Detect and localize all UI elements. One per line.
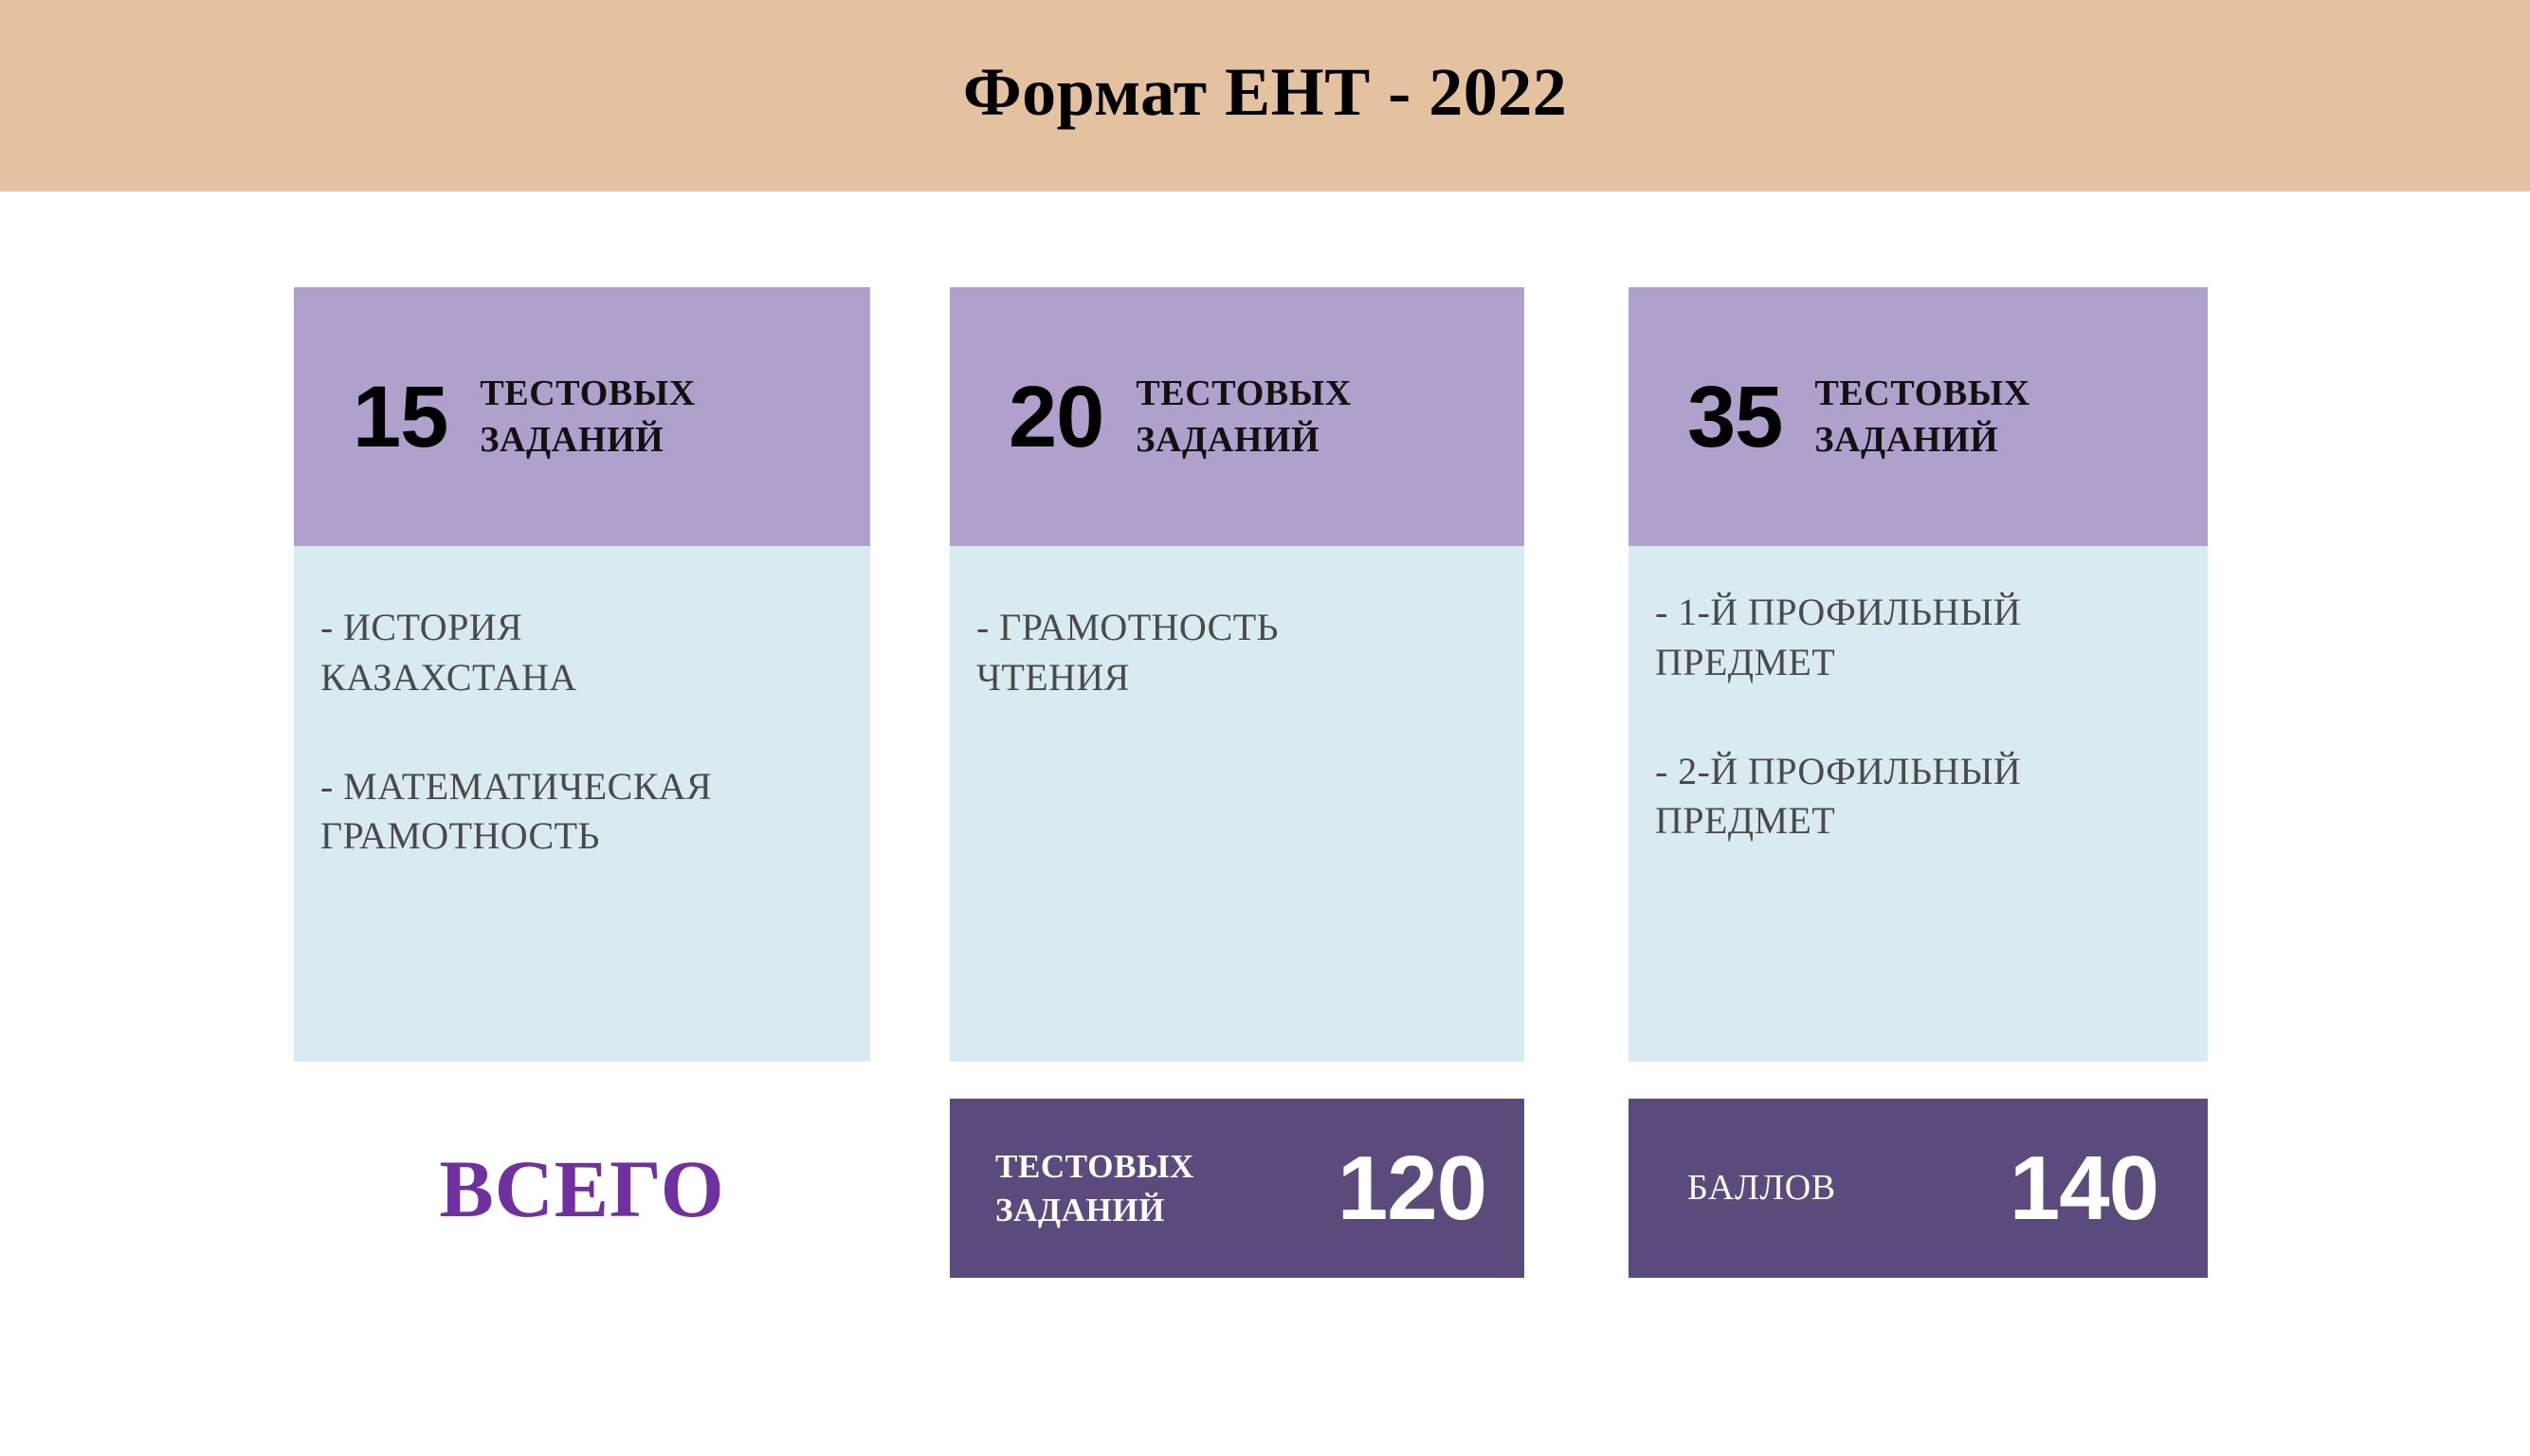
total-points-label: БАЛЛОВ (1687, 1165, 1836, 1211)
card-subject-item: - 2-Й ПРОФИЛЬНЫЙ ПРЕДМЕТ (1655, 747, 2181, 847)
exam-card-profile-subjects: 35 ТЕСТОВЫХ ЗАДАНИЙ - 1-Й ПРОФИЛЬНЫЙ ПРЕ… (1629, 287, 2208, 1062)
cards-area: 15 ТЕСТОВЫХ ЗАДАНИЙ - ИСТОРИЯ КАЗАХСТАНА… (0, 191, 2530, 1456)
total-points-value: 140 (2010, 1143, 2158, 1234)
card-subject-item: - ИСТОРИЯ КАЗАХСТАНА (320, 603, 844, 703)
total-points-box: БАЛЛОВ 140 (1629, 1099, 2208, 1278)
exam-card-history-math: 15 ТЕСТОВЫХ ЗАДАНИЙ - ИСТОРИЯ КАЗАХСТАНА… (294, 287, 870, 1062)
total-tasks-value: 120 (1338, 1143, 1486, 1234)
card-body: - ИСТОРИЯ КАЗАХСТАНА - МАТЕМАТИЧЕСКАЯ ГР… (294, 546, 870, 1062)
card-subject-item: - МАТЕМАТИЧЕСКАЯ ГРАМОТНОСТЬ (320, 762, 844, 863)
total-tasks-label: ТЕСТОВЫХ ЗАДАНИЙ (995, 1145, 1194, 1231)
page-title: Формат ЕНТ - 2022 (963, 58, 1567, 126)
card-body: - ГРАМОТНОСТЬ ЧТЕНИЯ (950, 546, 1524, 1062)
card-question-count: 35 (1687, 373, 1782, 461)
total-tasks-box: ТЕСТОВЫХ ЗАДАНИЙ 120 (950, 1099, 1524, 1278)
card-body: - 1-Й ПРОФИЛЬНЫЙ ПРЕДМЕТ - 2-Й ПРОФИЛЬНЫ… (1629, 546, 2208, 1062)
card-question-count: 15 (353, 373, 447, 461)
total-word: ВСЕГО (294, 1099, 870, 1278)
card-question-count-label: ТЕСТОВЫХ ЗАДАНИЙ (1136, 371, 1351, 463)
card-question-count: 20 (1009, 373, 1103, 461)
card-subject-item: - 1-Й ПРОФИЛЬНЫЙ ПРЕДМЕТ (1655, 588, 2181, 688)
card-header: 15 ТЕСТОВЫХ ЗАДАНИЙ (294, 287, 870, 546)
card-question-count-label: ТЕСТОВЫХ ЗАДАНИЙ (480, 371, 695, 463)
card-subject-item: - ГРАМОТНОСТЬ ЧТЕНИЯ (976, 603, 1498, 703)
exam-card-reading-literacy: 20 ТЕСТОВЫХ ЗАДАНИЙ - ГРАМОТНОСТЬ ЧТЕНИЯ (950, 287, 1524, 1062)
card-header: 20 ТЕСТОВЫХ ЗАДАНИЙ (950, 287, 1524, 546)
card-question-count-label: ТЕСТОВЫХ ЗАДАНИЙ (1814, 371, 2029, 463)
card-header: 35 ТЕСТОВЫХ ЗАДАНИЙ (1629, 287, 2208, 546)
header-band: Формат ЕНТ - 2022 (0, 0, 2530, 191)
